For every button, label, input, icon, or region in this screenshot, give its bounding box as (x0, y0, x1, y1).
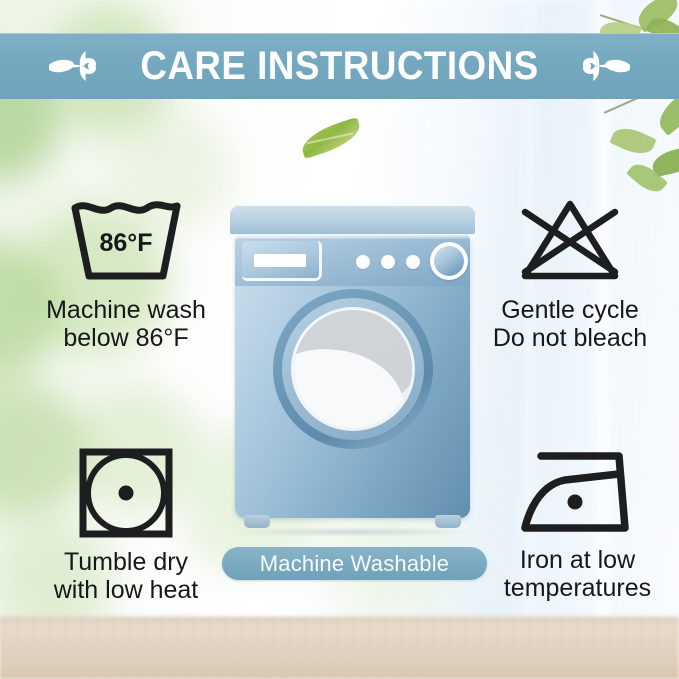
machine-program-knob (430, 242, 468, 280)
no-bleach-triangle-icon (511, 196, 629, 288)
machine-door-glass (294, 310, 412, 428)
care-instructions-infographic: CARE INSTRUCTIONS (0, 0, 679, 679)
detergent-drawer-slot (254, 254, 306, 267)
care-caption: Tumble dry with low heat (54, 548, 199, 604)
care-caption-line: with low heat (54, 576, 199, 604)
care-symbol-iron: Iron at low temperatures (480, 446, 675, 602)
care-caption-line: Gentle cycle (493, 296, 647, 324)
care-caption-line: below 86°F (46, 324, 206, 352)
care-caption: Machine wash below 86°F (46, 296, 206, 352)
machine-button (406, 255, 420, 269)
care-symbol-no-bleach: Gentle cycle Do not bleach (470, 196, 670, 352)
machine-button (356, 255, 370, 269)
fleur-de-lis-icon (574, 43, 630, 89)
fleur-de-lis-icon (49, 43, 105, 89)
care-caption: Iron at low temperatures (504, 546, 651, 602)
machine-foot (435, 515, 461, 528)
care-caption-line: Tumble dry (54, 548, 199, 576)
care-symbol-machine-wash: 86°F Machine wash below 86°F (28, 196, 224, 352)
tumble-dry-icon (74, 446, 178, 540)
care-caption-line: temperatures (504, 574, 651, 602)
machine-shadow (236, 527, 469, 537)
care-caption-line: Do not bleach (493, 324, 647, 352)
washing-machine-illustration (230, 205, 475, 535)
page-title: CARE INSTRUCTIONS (140, 44, 538, 89)
care-symbol-tumble-dry: Tumble dry with low heat (28, 446, 224, 604)
table-wood-grain (0, 617, 679, 679)
care-caption-line: Machine wash (46, 296, 206, 324)
wash-tub-icon: 86°F (67, 196, 185, 288)
care-caption: Gentle cycle Do not bleach (493, 296, 647, 352)
machine-washable-badge-label: Machine Washable (260, 551, 449, 577)
machine-door-inner-ring (282, 298, 424, 440)
machine-washable-badge: Machine Washable (222, 547, 487, 580)
machine-door (273, 289, 433, 449)
machine-button (381, 255, 395, 269)
wash-temperature-value: 86°F (99, 229, 152, 257)
iron-icon (519, 446, 637, 538)
header-banner: CARE INSTRUCTIONS (0, 33, 679, 99)
machine-foot (244, 515, 270, 528)
care-caption-line: Iron at low (504, 546, 651, 574)
machine-top-lid (230, 205, 475, 235)
detergent-drawer (242, 241, 322, 281)
